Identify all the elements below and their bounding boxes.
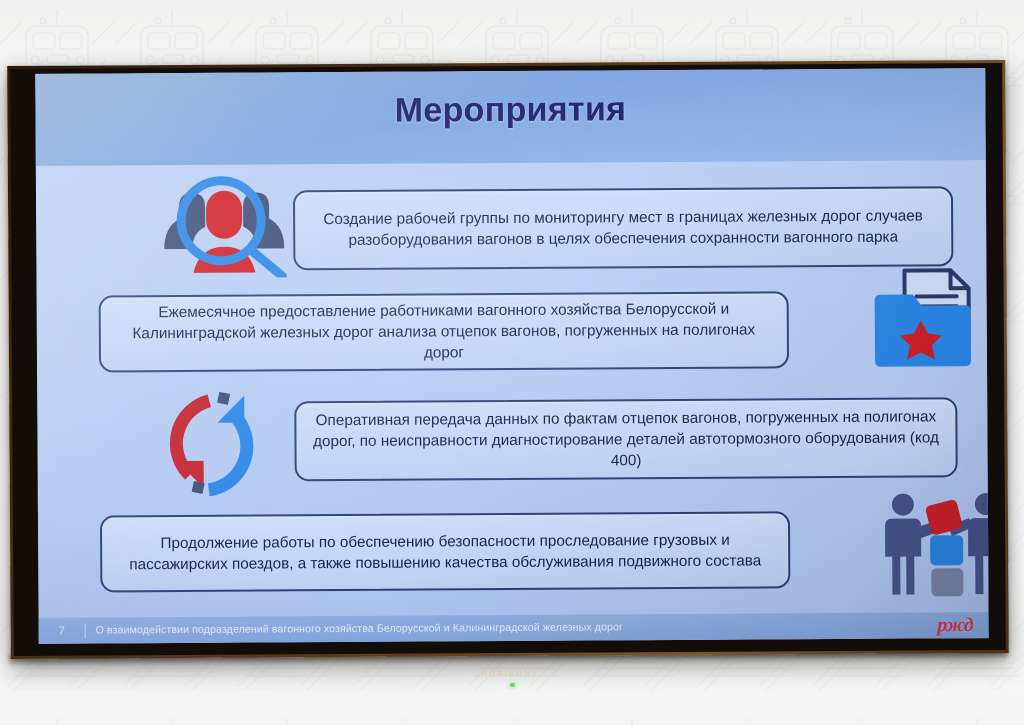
- page-title: Мероприятия: [35, 88, 985, 133]
- people-magnifier-icon: [149, 172, 300, 278]
- refresh-cycle-arrows-icon: [145, 386, 286, 497]
- rzd-logo: ржд: [937, 614, 973, 637]
- callout-box-4: Продолжение работы по обеспечению безопа…: [100, 511, 790, 592]
- callout-box-1: Создание рабочей группы по мониторингу м…: [293, 186, 953, 270]
- callout-text-2: Ежемесячное предоставление работниками в…: [117, 298, 771, 365]
- monitor-screen: Мероприятия: [35, 68, 988, 644]
- footer-subtitle: О взаимодействии подразделений вагонного…: [96, 621, 623, 636]
- folder-document-star-icon: [872, 264, 988, 375]
- presentation-slide: Мероприятия: [35, 68, 988, 644]
- people-handover-blocks-icon: [876, 489, 989, 600]
- power-led-indicator: [510, 683, 515, 687]
- callout-text-4: Продолжение работы по обеспечению безопа…: [118, 529, 772, 575]
- callout-box-2: Ежемесячное предоставление работниками в…: [99, 291, 789, 372]
- display-monitor: HORIZONT Мероприятия: [7, 60, 1009, 659]
- photo-scene: HORIZONT Мероприятия: [0, 0, 1024, 725]
- page-number: 7: [39, 624, 85, 638]
- footer-divider: [85, 623, 86, 638]
- callout-text-3: Оперативная передача данных по фактам от…: [312, 406, 939, 473]
- callout-text-1: Создание рабочей группы по мониторингу м…: [311, 205, 935, 251]
- callout-box-3: Оперативная передача данных по фактам от…: [294, 397, 957, 481]
